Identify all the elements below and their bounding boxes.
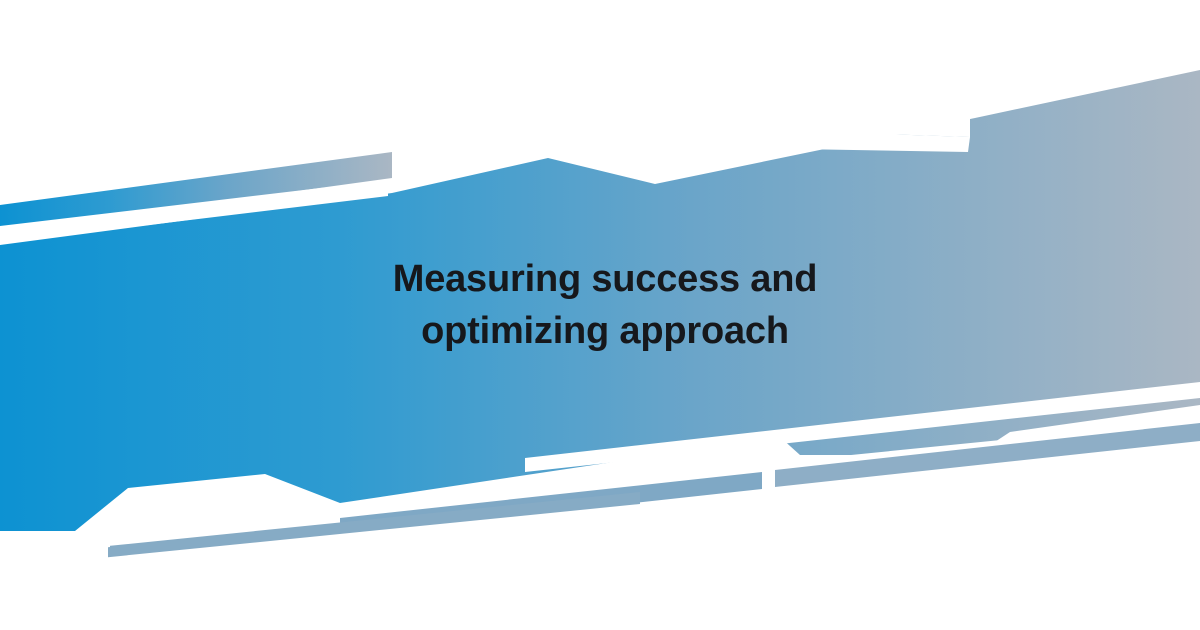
decorative-background-artwork: [0, 0, 1200, 630]
banner-image: Measuring success and optimizing approac…: [0, 0, 1200, 630]
